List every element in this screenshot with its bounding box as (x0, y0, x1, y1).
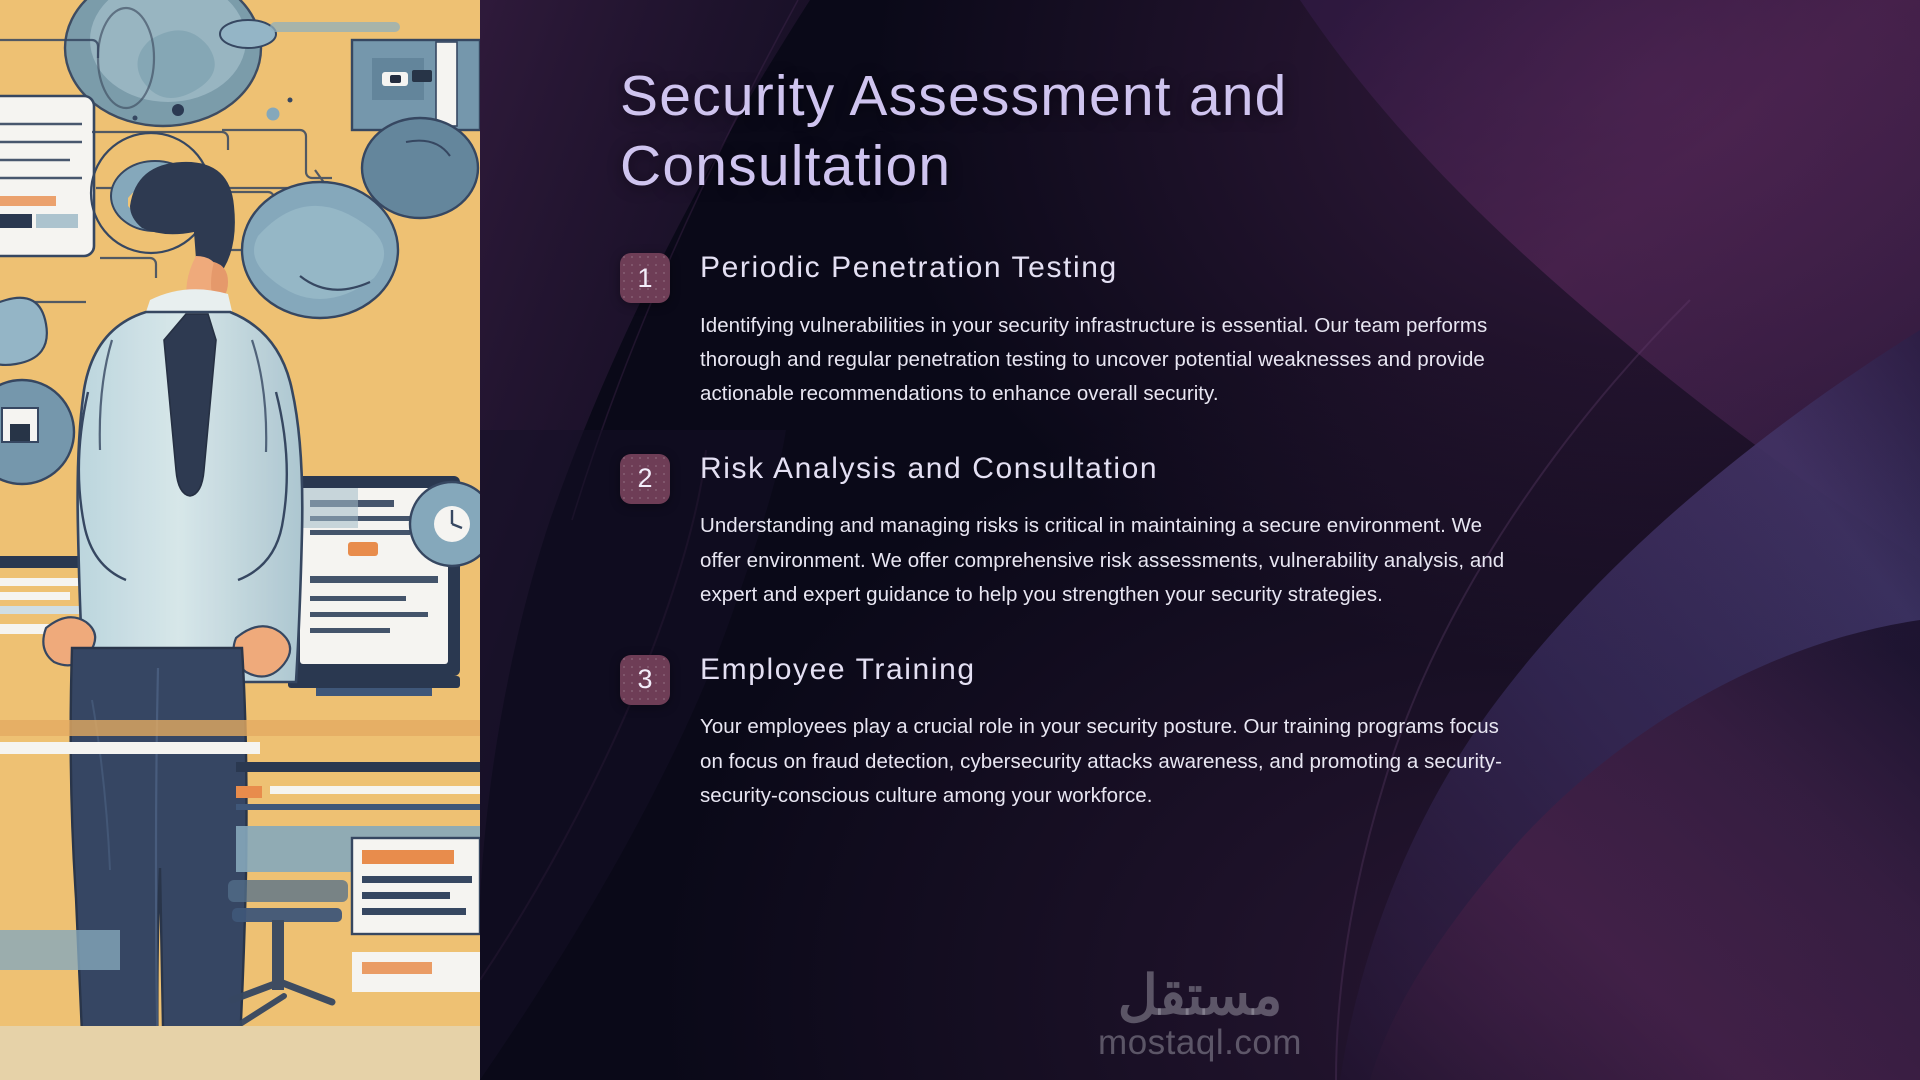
step-number-badge: 2 (620, 454, 670, 504)
list-item: 2 Risk Analysis and Consultation Underst… (620, 450, 1850, 613)
list-item: 1 Periodic Penetration Testing Identifyi… (620, 249, 1850, 412)
list-item: 3 Employee Training Your employees play … (620, 651, 1850, 814)
page-title: Security Assessment and Consultation (620, 62, 1520, 201)
slide-content: Security Assessment and Consultation 1 P… (480, 0, 1920, 1080)
section-body: Periodic Penetration Testing Identifying… (700, 249, 1520, 412)
presentation-slide: Security Assessment and Consultation 1 P… (0, 0, 1920, 1080)
illustration-panel (0, 0, 480, 1080)
step-number-badge: 1 (620, 253, 670, 303)
step-number-badge: 3 (620, 655, 670, 705)
content-panel: Security Assessment and Consultation 1 P… (480, 0, 1920, 1080)
numbered-section-list: 1 Periodic Penetration Testing Identifyi… (620, 249, 1850, 813)
section-heading: Risk Analysis and Consultation (700, 450, 1520, 488)
section-heading: Employee Training (700, 651, 1520, 689)
office-scene-illustration (0, 0, 480, 1080)
section-heading: Periodic Penetration Testing (700, 249, 1520, 287)
section-text: Understanding and managing risks is crit… (700, 509, 1520, 612)
section-body: Employee Training Your employees play a … (700, 651, 1520, 814)
section-text: Your employees play a crucial role in yo… (700, 710, 1520, 813)
section-text: Identifying vulnerabilities in your secu… (700, 309, 1520, 412)
section-body: Risk Analysis and Consultation Understan… (700, 450, 1520, 613)
